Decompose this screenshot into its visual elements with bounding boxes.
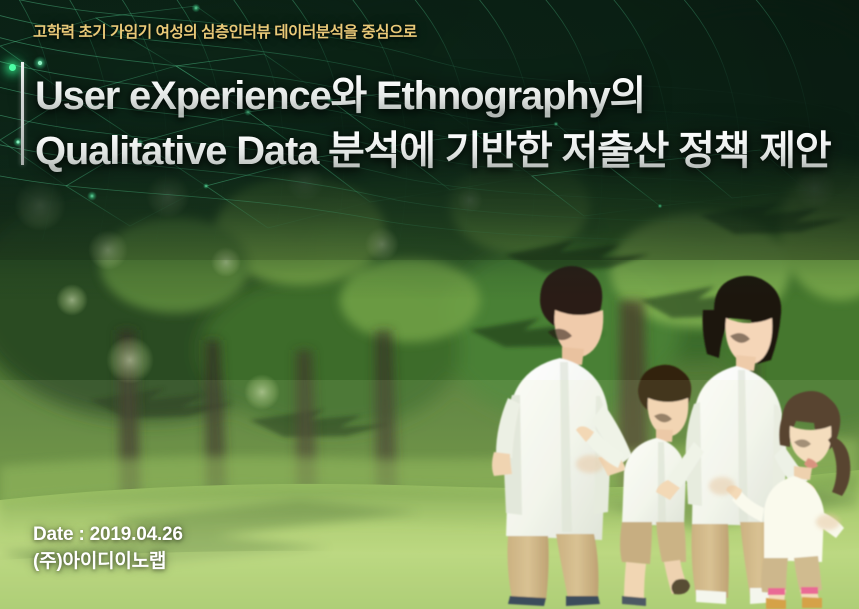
footer-date: Date : 2019.04.26 (33, 521, 183, 548)
presentation-slide: 고학력 초기 가임기 여성의 심층인터뷰 데이터분석을 중심으로 User eX… (0, 0, 859, 609)
slide-title-line-2: Qualitative Data 분석에 기반한 저출산 정책 제안 (35, 118, 831, 176)
slide-eyebrow-text: 고학력 초기 가임기 여성의 심층인터뷰 데이터분석을 중심으로 (33, 20, 417, 42)
glow-node-icon (9, 64, 16, 71)
slide-title-line-1: User eXperience와 Ethnography의 (35, 63, 645, 121)
footer-company: (주)아이디이노랩 (33, 548, 183, 575)
title-block: 고학력 초기 가임기 여성의 심층인터뷰 데이터분석을 중심으로 User eX… (0, 0, 859, 200)
title-accent-bar (21, 62, 24, 165)
slide-footer: Date : 2019.04.26 (주)아이디이노랩 (33, 521, 183, 575)
